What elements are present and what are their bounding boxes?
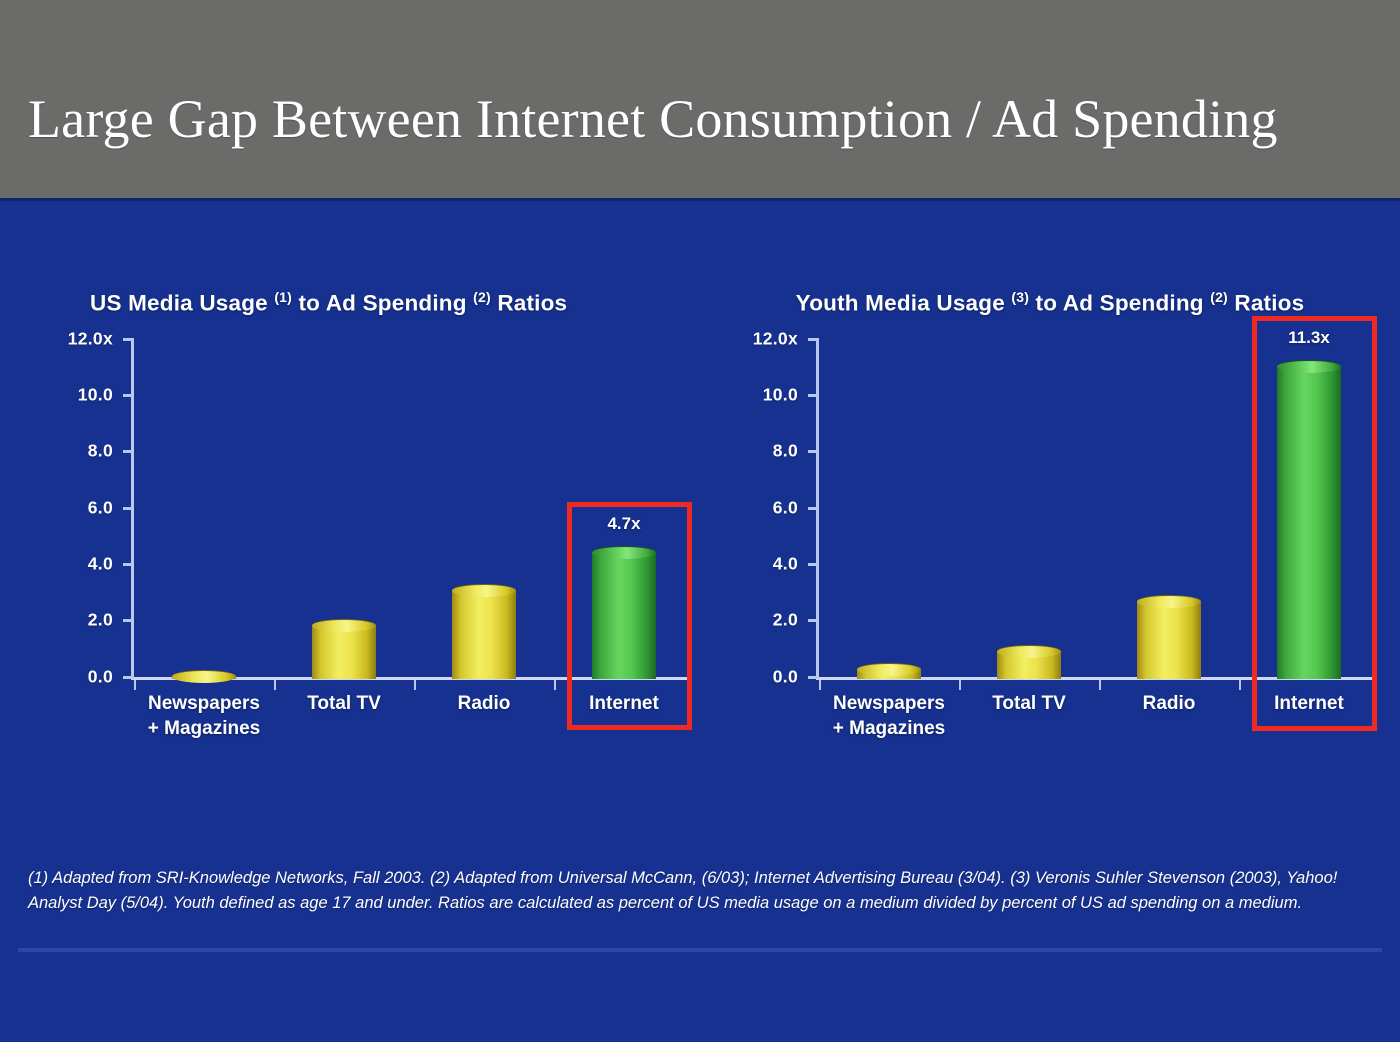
x-axis-label-line: Radio — [1099, 691, 1239, 716]
y-axis-tick-mark — [123, 507, 134, 510]
y-axis-tick-label: 8.0 — [88, 441, 113, 462]
x-axis-label-line: Total TV — [959, 691, 1099, 716]
y-axis-tick-label: 0.0 — [88, 666, 113, 687]
bar-value-label: 4.7x — [607, 514, 640, 534]
x-axis-tick-mark — [1239, 680, 1241, 690]
chart-title-left: US Media Usage (1) to Ad Spending (2) Ra… — [30, 280, 700, 321]
y-axis-tick-label: 8.0 — [773, 441, 798, 462]
x-axis-label: Internet — [554, 691, 694, 716]
plot-area-left: 0.02.04.06.08.010.012.0x 4.7x Newspapers… — [30, 339, 700, 684]
x-axis-label: Total TV — [274, 691, 414, 716]
bar-value-label: 11.3x — [1288, 328, 1330, 348]
bar-total-tv[interactable] — [312, 619, 376, 678]
bars-left: 4.7x — [134, 339, 694, 679]
x-axis-label: Total TV — [959, 691, 1099, 716]
x-axis-label: Radio — [1099, 691, 1239, 716]
page-title: Large Gap Between Internet Consumption /… — [28, 88, 1278, 150]
chart-title-left-part-b: to Ad Spending — [298, 291, 466, 316]
y-axis-tick-label: 6.0 — [88, 497, 113, 518]
y-axis-tick-mark — [808, 676, 819, 679]
y-axis-tick-mark — [808, 619, 819, 622]
x-axis-label-line: + Magazines — [134, 716, 274, 741]
y-axis-tick-label: 10.0 — [78, 384, 113, 405]
slide: Large Gap Between Internet Consumption /… — [0, 0, 1400, 1042]
bar-slot — [1099, 339, 1239, 679]
y-axis-tick-label: 6.0 — [773, 497, 798, 518]
y-axis-tick-mark — [808, 450, 819, 453]
chart-youth-media-usage: Youth Media Usage (3) to Ad Spending (2)… — [715, 280, 1385, 810]
bar-radio[interactable] — [452, 584, 516, 678]
y-axis-tick-label: 12.0x — [753, 328, 798, 349]
footnote-ref-1: (1) — [274, 289, 292, 305]
y-axis-tick-mark — [123, 676, 134, 679]
y-axis-tick-label: 0.0 — [773, 666, 798, 687]
bar-internet[interactable] — [592, 546, 656, 678]
y-axis-left: 0.02.04.06.08.010.012.0x — [30, 339, 135, 679]
x-axis-label-line: Newspapers — [819, 691, 959, 716]
y-axis-tick-label: 4.0 — [88, 553, 113, 574]
x-axis-label-line: Total TV — [274, 691, 414, 716]
chart-title-right-part-b: to Ad Spending — [1036, 291, 1204, 316]
y-axis-tick-label: 4.0 — [773, 553, 798, 574]
bar-slot — [274, 339, 414, 679]
x-axis-label: Newspapers+ Magazines — [134, 691, 274, 741]
y-axis-tick-label: 2.0 — [88, 610, 113, 631]
bar-slot — [414, 339, 554, 679]
y-axis-tick-mark — [123, 394, 134, 397]
x-axis-label-line: Internet — [1239, 691, 1379, 716]
y-axis-tick-mark — [808, 563, 819, 566]
y-axis-tick-mark — [808, 394, 819, 397]
chart-us-media-usage: US Media Usage (1) to Ad Spending (2) Ra… — [30, 280, 700, 810]
footnote-ref-3: (3) — [1011, 289, 1029, 305]
y-axis-tick-label: 2.0 — [773, 610, 798, 631]
x-axis-tick-mark — [274, 680, 276, 690]
bar-slot — [134, 339, 274, 679]
x-axis-labels-right: Newspapers+ MagazinesTotal TVRadioIntern… — [819, 691, 1379, 761]
y-axis-tick-mark — [808, 507, 819, 510]
bars-right: 11.3x — [819, 339, 1379, 679]
bar-total-tv[interactable] — [997, 645, 1061, 679]
bar-slot — [959, 339, 1099, 679]
footnote-ref-2: (2) — [473, 289, 491, 305]
y-axis-tick-mark — [123, 563, 134, 566]
x-axis-label-line: Radio — [414, 691, 554, 716]
y-axis-tick-label: 10.0 — [763, 384, 798, 405]
slide-header: Large Gap Between Internet Consumption /… — [0, 0, 1400, 201]
chart-title-right-part-c: Ratios — [1234, 291, 1304, 316]
y-axis-tick-mark — [123, 619, 134, 622]
y-axis-tick-mark — [123, 338, 134, 341]
footnote-ref-2b: (2) — [1210, 289, 1228, 305]
slide-footer: MorganStanley 43 Yourseeker — [0, 952, 1400, 1042]
x-axis-tick-mark — [1099, 680, 1101, 690]
bar-slot: 4.7x — [554, 339, 694, 679]
bar-newspapers-magazines[interactable] — [857, 663, 921, 678]
plot-area-right: 0.02.04.06.08.010.012.0x 11.3x Newspaper… — [715, 339, 1385, 684]
chart-title-left-part-c: Ratios — [497, 291, 567, 316]
chart-title-left-part-a: US Media Usage — [90, 291, 268, 316]
x-axis-label-line: + Magazines — [819, 716, 959, 741]
x-axis-tick-mark — [554, 680, 556, 690]
x-axis-tick-mark — [134, 680, 136, 690]
chart-title-right-part-a: Youth Media Usage — [796, 291, 1005, 316]
bar-radio[interactable] — [1137, 595, 1201, 678]
bar-slot: 11.3x — [1239, 339, 1379, 679]
x-axis-label-line: Newspapers — [134, 691, 274, 716]
chart-title-right: Youth Media Usage (3) to Ad Spending (2)… — [715, 280, 1385, 321]
footnote: (1) Adapted from SRI-Knowledge Networks,… — [28, 866, 1373, 916]
bar-slot — [819, 339, 959, 679]
bar-internet[interactable] — [1277, 360, 1341, 678]
bar-newspapers-magazines[interactable] — [172, 670, 236, 678]
x-axis-label: Internet — [1239, 691, 1379, 716]
x-axis-label: Newspapers+ Magazines — [819, 691, 959, 741]
x-axis-label-line: Internet — [554, 691, 694, 716]
y-axis-right: 0.02.04.06.08.010.012.0x — [715, 339, 820, 679]
y-axis-tick-label: 12.0x — [68, 328, 113, 349]
x-axis-tick-mark — [414, 680, 416, 690]
y-axis-tick-mark — [808, 338, 819, 341]
x-axis-tick-mark — [819, 680, 821, 690]
y-axis-tick-mark — [123, 450, 134, 453]
x-axis-tick-mark — [959, 680, 961, 690]
x-axis-labels-left: Newspapers+ MagazinesTotal TVRadioIntern… — [134, 691, 694, 761]
x-axis-label: Radio — [414, 691, 554, 716]
